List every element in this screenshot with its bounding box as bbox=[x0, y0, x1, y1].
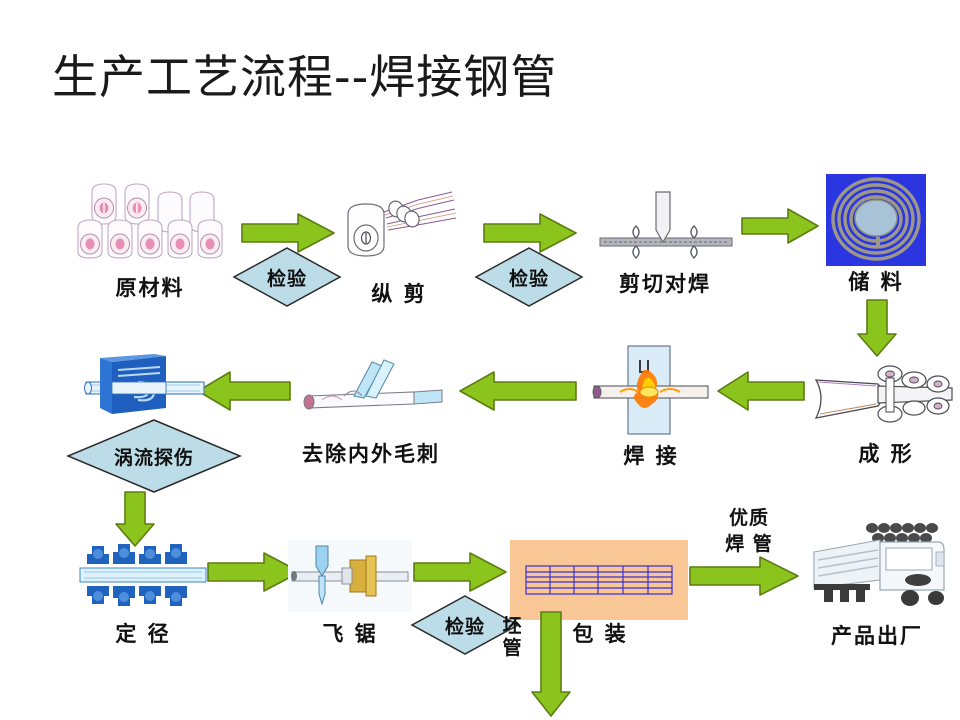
slitting-coil-image bbox=[340, 186, 458, 266]
caption-welding: 焊 接 bbox=[586, 440, 716, 470]
caption-forming: 成 形 bbox=[812, 438, 960, 468]
arrow-left-deburring-to-eddy bbox=[196, 370, 292, 412]
caption-slitting: 纵 剪 bbox=[340, 278, 458, 308]
caption-raw-material: 原材料 bbox=[70, 272, 230, 302]
edge-label-quality-pipe-line1: 优质 bbox=[694, 506, 804, 532]
caption-sizing: 定 径 bbox=[76, 618, 210, 648]
edge-label-reject-blank-pipe-line1: 坯 bbox=[498, 616, 526, 638]
delivery-truck-image bbox=[806, 518, 948, 614]
decision-eddy-test[interactable]: 涡流探伤 bbox=[66, 418, 242, 494]
caption-deburring: 去除内外毛刺 bbox=[286, 438, 456, 468]
steel-coils-stack-image bbox=[70, 178, 230, 260]
arrow-left-forming-to-welding bbox=[716, 370, 806, 412]
edge-label-quality-pipe: 优质 焊 管 bbox=[694, 506, 804, 557]
arrow-right-shear-to-storage bbox=[740, 207, 820, 245]
arrow-left-welding-to-deburring bbox=[458, 370, 578, 412]
arrow-right-packing-to-shipping bbox=[688, 555, 800, 597]
shear-butt-weld-image bbox=[590, 186, 740, 270]
edge-label-reject-blank-pipe: 坯 管 bbox=[498, 616, 526, 660]
roll-forming-image bbox=[812, 358, 960, 430]
pipe-bundle-package-image bbox=[510, 540, 688, 620]
eddy-current-machine-image bbox=[82, 352, 208, 424]
deburring-tool-image bbox=[296, 352, 446, 428]
arrow-down-storage-to-forming bbox=[856, 298, 898, 358]
flying-saw-image bbox=[288, 540, 412, 612]
caption-flying-saw: 飞 锯 bbox=[286, 618, 414, 648]
slide-canvas: 生产工艺流程--焊接钢管 bbox=[0, 0, 960, 720]
caption-storage: 储 料 bbox=[820, 266, 932, 296]
caption-shipping: 产品出厂 bbox=[800, 620, 954, 650]
arrow-right-saw-to-packing bbox=[412, 551, 508, 593]
decision-inspect-1[interactable]: 检验 bbox=[232, 246, 342, 308]
sizing-roll-stands-image bbox=[78, 540, 208, 610]
arrow-down-reject-blank-pipe bbox=[530, 610, 572, 718]
decision-inspect-2[interactable]: 检验 bbox=[474, 246, 584, 308]
edge-label-quality-pipe-line2: 焊 管 bbox=[694, 532, 804, 558]
caption-shear-weld: 剪切对焊 bbox=[590, 268, 740, 298]
accumulator-coil-image bbox=[826, 174, 926, 266]
edge-label-reject-blank-pipe-line2: 管 bbox=[498, 638, 526, 660]
hf-welding-flame-image bbox=[586, 344, 716, 438]
page-title: 生产工艺流程--焊接钢管 bbox=[52, 52, 557, 103]
